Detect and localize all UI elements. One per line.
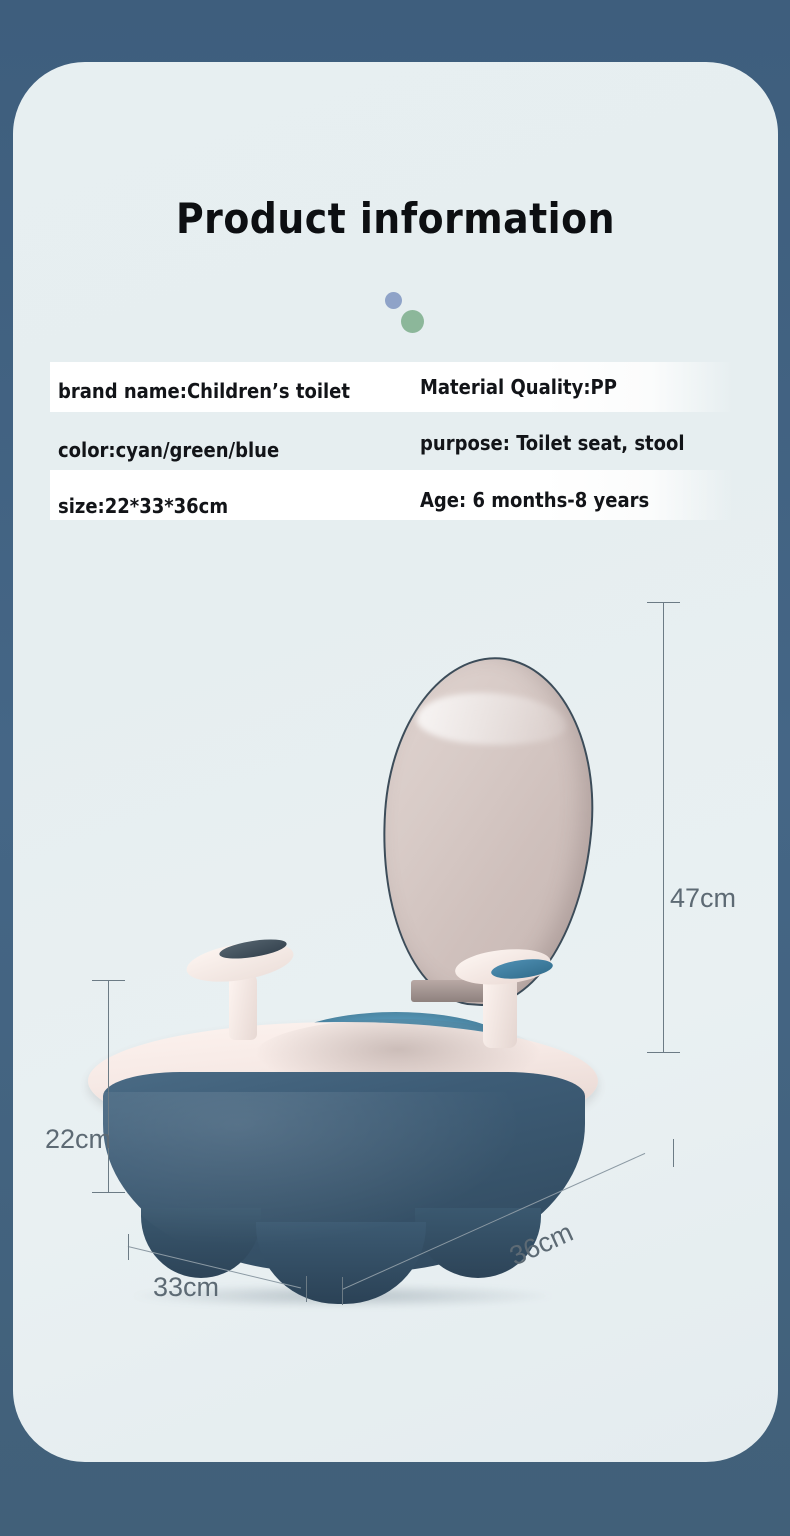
- spec-table: brand name:Children’s toilet Material Qu…: [13, 362, 778, 524]
- page-title: Product information: [13, 194, 778, 243]
- dimension-label-height-overall: 47cm: [670, 883, 736, 914]
- lid-highlight: [415, 688, 568, 750]
- dimension-cap-bottom: [647, 1052, 680, 1053]
- spec-age: Age: 6 months-8 years: [420, 488, 649, 512]
- armrest-post: [229, 972, 257, 1040]
- dimension-cap-left: [342, 1277, 343, 1305]
- product-illustration-stage: 47cm 22cm 33cm 36cm: [13, 532, 778, 1362]
- dimension-label-height-seat: 22cm: [45, 1124, 111, 1155]
- product-detail-page: Product information brand name:Children’…: [0, 0, 790, 1536]
- dimension-cap-left: [128, 1234, 129, 1260]
- dimension-cap-right: [673, 1139, 674, 1167]
- info-card: Product information brand name:Children’…: [13, 62, 778, 1462]
- spec-purpose: purpose: Toilet seat, stool: [420, 431, 685, 455]
- dimension-cap-bottom: [92, 1192, 125, 1193]
- spec-color: color:cyan/green/blue: [58, 438, 279, 462]
- spec-row: size:22*33*36cm Age: 6 months-8 years: [13, 470, 778, 524]
- dimension-line-height-seat: [108, 980, 109, 1192]
- green-dot-icon: [401, 310, 424, 333]
- dimension-line-height-overall: [663, 602, 664, 1052]
- spec-brand-name: brand name:Children’s toilet: [58, 379, 350, 403]
- dimension-cap-right: [306, 1276, 307, 1302]
- dimension-cap-top: [647, 602, 680, 603]
- spec-row: color:cyan/green/blue purpose: Toilet se…: [13, 416, 778, 470]
- dimension-cap-top: [92, 980, 125, 981]
- spec-material-quality: Material Quality:PP: [420, 375, 617, 399]
- dimension-label-width: 33cm: [153, 1272, 219, 1303]
- spec-size: size:22*33*36cm: [58, 494, 228, 518]
- blue-dot-icon: [385, 292, 402, 309]
- spec-row: brand name:Children’s toilet Material Qu…: [13, 362, 778, 416]
